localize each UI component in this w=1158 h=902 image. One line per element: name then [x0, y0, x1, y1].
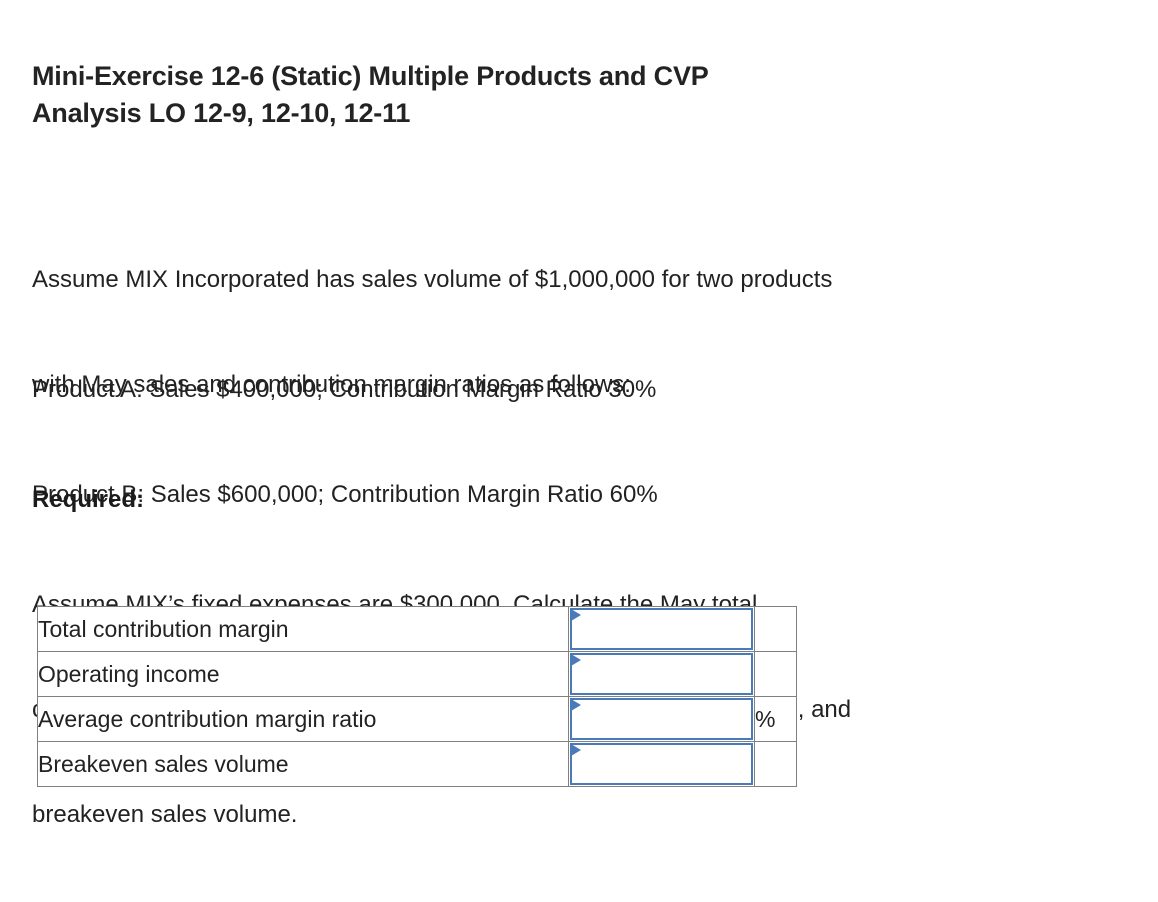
answer-input-total-contribution-margin[interactable]	[570, 608, 753, 650]
row-label-total-contribution-margin: Total contribution margin	[38, 607, 569, 652]
unit-cell-operating-income	[755, 652, 797, 697]
triangle-right-icon	[571, 744, 581, 756]
unit-cell-percent-sign: %	[755, 697, 797, 742]
table-row: Total contribution margin	[38, 607, 797, 652]
triangle-right-icon	[571, 609, 581, 621]
input-cell-breakeven-sales-volume[interactable]	[569, 742, 755, 787]
required-heading: Required:	[32, 482, 851, 517]
unit-cell-total-contribution-margin	[755, 607, 797, 652]
page-title-line-1: Mini-Exercise 12-6 (Static) Multiple Pro…	[32, 58, 1032, 95]
page-title: Mini-Exercise 12-6 (Static) Multiple Pro…	[32, 58, 1032, 132]
row-label-average-contribution-margin-ratio: Average contribution margin ratio	[38, 697, 569, 742]
required-line-3: breakeven sales volume.	[32, 797, 851, 832]
unit-cell-breakeven-sales-volume	[755, 742, 797, 787]
triangle-right-icon	[571, 654, 581, 666]
table-row: Operating income	[38, 652, 797, 697]
page-title-line-2: Analysis LO 12-9, 12-10, 12-11	[32, 95, 1032, 132]
answer-input-breakeven-sales-volume[interactable]	[570, 743, 753, 785]
row-label-breakeven-sales-volume: Breakeven sales volume	[38, 742, 569, 787]
input-cell-total-contribution-margin[interactable]	[569, 607, 755, 652]
triangle-right-icon	[571, 699, 581, 711]
intro-line-1: Assume MIX Incorporated has sales volume…	[32, 262, 832, 297]
row-label-operating-income: Operating income	[38, 652, 569, 697]
input-cell-average-contribution-margin-ratio[interactable]	[569, 697, 755, 742]
table-row: Average contribution margin ratio %	[38, 697, 797, 742]
answer-input-operating-income[interactable]	[570, 653, 753, 695]
table-row: Breakeven sales volume	[38, 742, 797, 787]
answer-table: Total contribution margin Operating inco…	[37, 606, 797, 787]
product-a-line: Product A: Sales $400,000; Contribution …	[32, 372, 658, 407]
input-cell-operating-income[interactable]	[569, 652, 755, 697]
answer-input-average-contribution-margin-ratio[interactable]	[570, 698, 753, 740]
